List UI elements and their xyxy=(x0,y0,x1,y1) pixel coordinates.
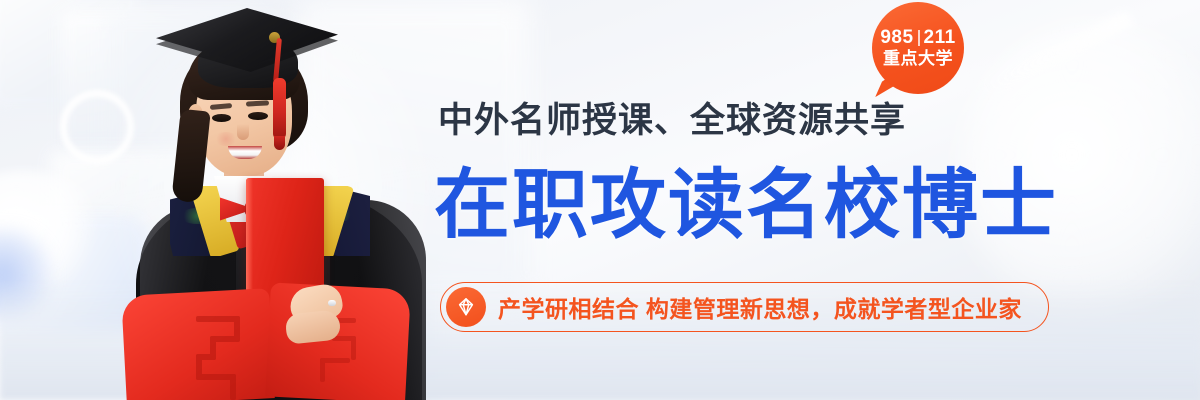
cheek-blush xyxy=(214,132,238,146)
eye-right xyxy=(248,112,268,120)
tagline-text: 产学研相结合 构建管理新思想，成就学者型企业家 xyxy=(498,290,1022,324)
promo-banner: 中外名师授课、全球资源共享 985 211 重点大学 在职攻读名校博士 xyxy=(0,0,1200,400)
tassel-icon xyxy=(273,78,286,140)
tassel-tip xyxy=(274,136,285,150)
tagline-pill: 产学研相结合 构建管理新思想，成就学者型企业家 xyxy=(440,282,1049,332)
nose xyxy=(237,124,249,140)
diamond-gem-icon xyxy=(446,287,486,327)
page-title: 在职攻读名校博士 xyxy=(434,164,1058,248)
badge-211: 211 xyxy=(924,27,956,48)
bow-wing-left xyxy=(220,196,248,222)
badge-line-1: 985 211 xyxy=(880,27,955,48)
banner-content: 中外名师授课、全球资源共享 985 211 重点大学 在职攻读名校博士 xyxy=(430,0,1050,400)
banner-subtitle: 中外名师授课、全球资源共享 xyxy=(438,92,906,143)
badge-separator xyxy=(918,30,920,46)
badge-985: 985 xyxy=(880,27,913,48)
ring xyxy=(328,300,336,306)
sleeve-pattern-left xyxy=(196,316,250,400)
graduate-student-photo xyxy=(118,0,438,400)
badge-line-2: 重点大学 xyxy=(883,49,953,69)
badge-985-211: 985 211 重点大学 xyxy=(872,2,964,94)
eye-left xyxy=(212,114,231,122)
badge-bubble: 985 211 重点大学 xyxy=(872,2,964,94)
